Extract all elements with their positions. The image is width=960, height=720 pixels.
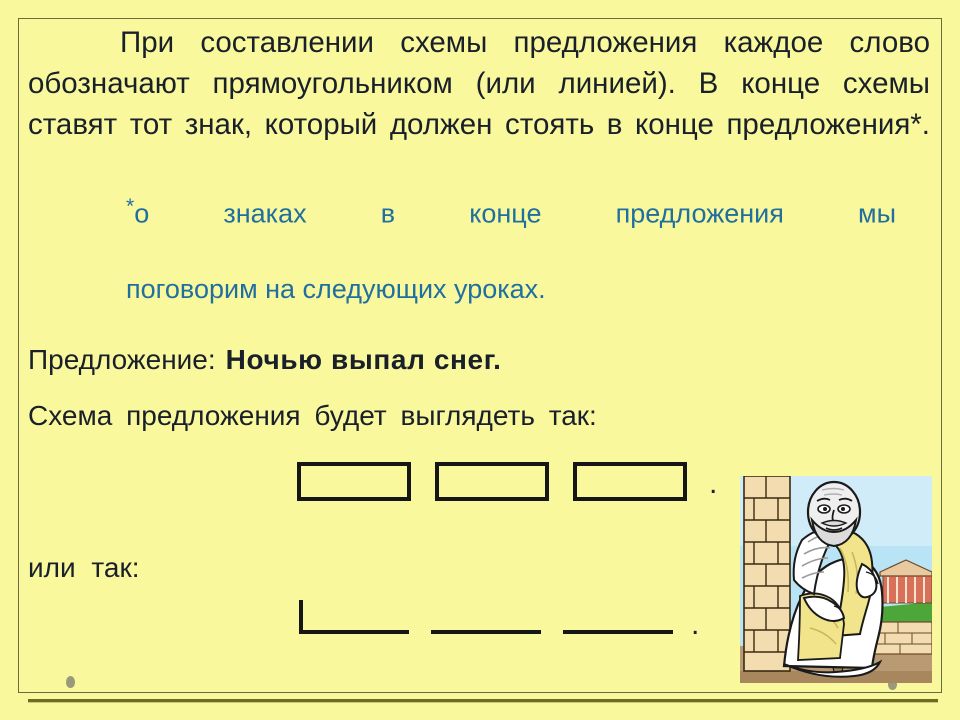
- word-box: [573, 462, 687, 501]
- footnote-line-1: *о знаках в конце предложения мы: [126, 188, 896, 270]
- word-line: [563, 630, 673, 634]
- word-box: [435, 462, 549, 501]
- scheme-lines: .: [299, 604, 699, 634]
- scheme-lines-end-punctuation: .: [691, 610, 699, 640]
- footnote-line-2: поговорим на следующих уроках.: [126, 270, 896, 308]
- greek-philosopher-illustration: [740, 476, 932, 683]
- footnote-line-1-text: о знаках в конце предложения мы: [134, 198, 896, 228]
- alternative-intro: или так:: [28, 552, 140, 584]
- slide: При составлении схемы предложения каждое…: [0, 0, 960, 720]
- word-line-capital: [299, 630, 409, 634]
- bottom-rule: [28, 699, 938, 702]
- intro-paragraph: При составлении схемы предложения каждое…: [28, 22, 930, 186]
- footnote-star: *: [126, 195, 134, 218]
- scheme-boxes: .: [297, 462, 717, 501]
- word-box: [297, 462, 411, 501]
- word-line: [431, 630, 541, 634]
- decorative-dot-left: [66, 676, 75, 688]
- example-sentence-row: Предложение:Ночью выпал снег.: [28, 342, 932, 378]
- scheme-intro: Схема предложения будет выглядеть так:: [28, 398, 932, 434]
- scheme-boxes-end-punctuation: .: [709, 469, 717, 499]
- sentence-value: Ночью выпал снег.: [226, 344, 502, 375]
- sentence-label: Предложение:: [28, 344, 216, 375]
- footnote: *о знаках в конце предложения мы поговор…: [126, 188, 896, 308]
